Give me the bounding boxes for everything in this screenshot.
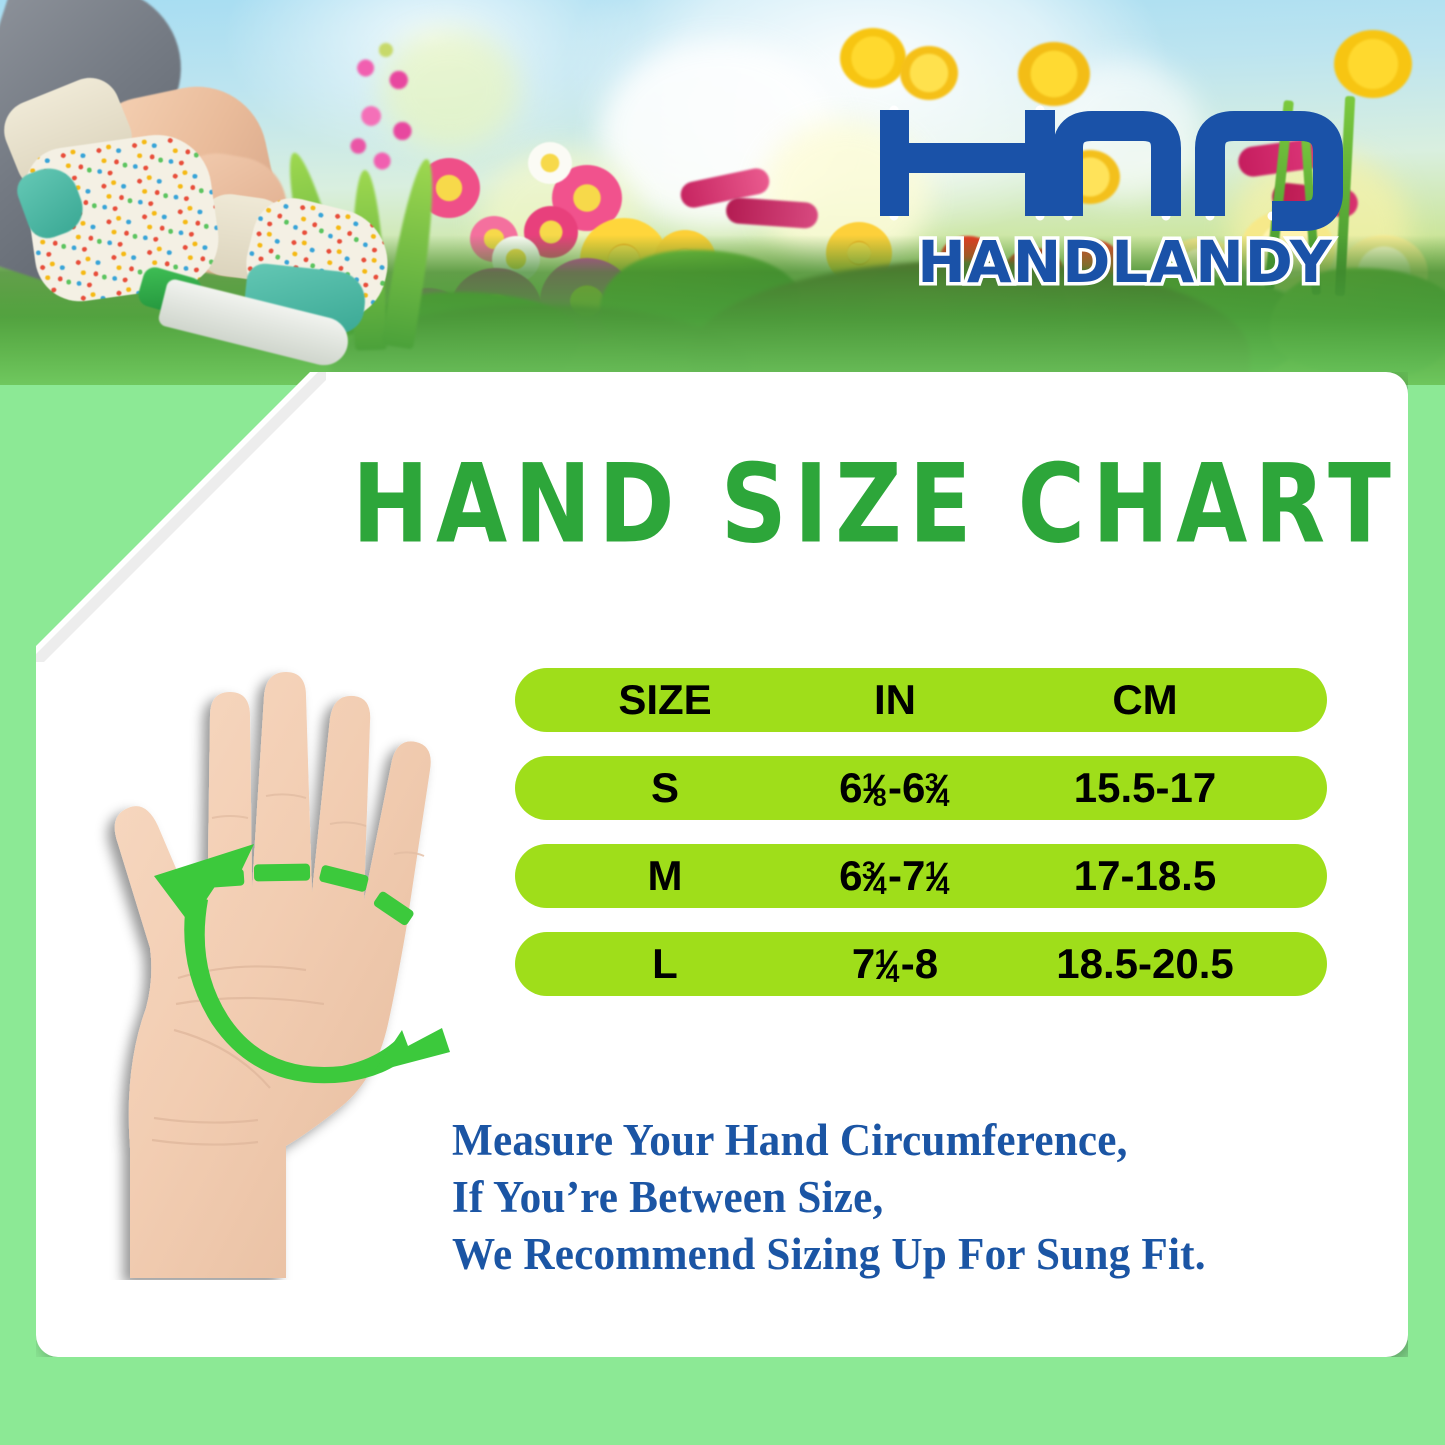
table-row: S 61⁄8-63⁄4 15.5-17 (515, 756, 1327, 820)
daffodil-flower (840, 28, 906, 88)
daffodil-flower (900, 46, 958, 100)
sizing-note: Measure Your Hand Circumference, If You’… (452, 1112, 1297, 1283)
hand-size-chart-page: HANDLANDY HAND SIZE CHART (0, 0, 1445, 1445)
size-table: SIZE IN CM S 61⁄8-63⁄4 15.5-17 M 63⁄4-71… (515, 668, 1327, 1020)
handlandy-logo: HANDLANDY (880, 96, 1370, 291)
sizing-note-line-2: If You’re Between Size, (452, 1169, 1297, 1226)
table-row: M 63⁄4-71⁄4 17-18.5 (515, 844, 1327, 908)
cell-size: S (555, 756, 775, 820)
hand-palm-circumference-icon (58, 648, 478, 1280)
table-row: L 71⁄4-8 18.5-20.5 (515, 932, 1327, 996)
table-header-row: SIZE IN CM (515, 668, 1327, 732)
daffodil-flower (1334, 30, 1412, 98)
garden-banner-image: HANDLANDY (0, 0, 1445, 385)
svg-text:HANDLANDY: HANDLANDY (917, 228, 1332, 291)
column-header-cm: CM (985, 668, 1305, 732)
cell-cm: 15.5-17 (985, 756, 1305, 820)
hyacinth-flower (338, 38, 430, 188)
sizing-note-line-1: Measure Your Hand Circumference, (452, 1112, 1297, 1169)
cell-size: M (555, 844, 775, 908)
column-header-size: SIZE (555, 668, 775, 732)
sizing-note-line-3: We Recommend Sizing Up For Sung Fit. (452, 1226, 1297, 1283)
cell-cm: 17-18.5 (985, 844, 1305, 908)
cell-cm: 18.5-20.5 (985, 932, 1305, 996)
page-title: HAND SIZE CHART (352, 440, 1372, 570)
cell-size: L (555, 932, 775, 996)
daisy-flower (528, 142, 572, 184)
